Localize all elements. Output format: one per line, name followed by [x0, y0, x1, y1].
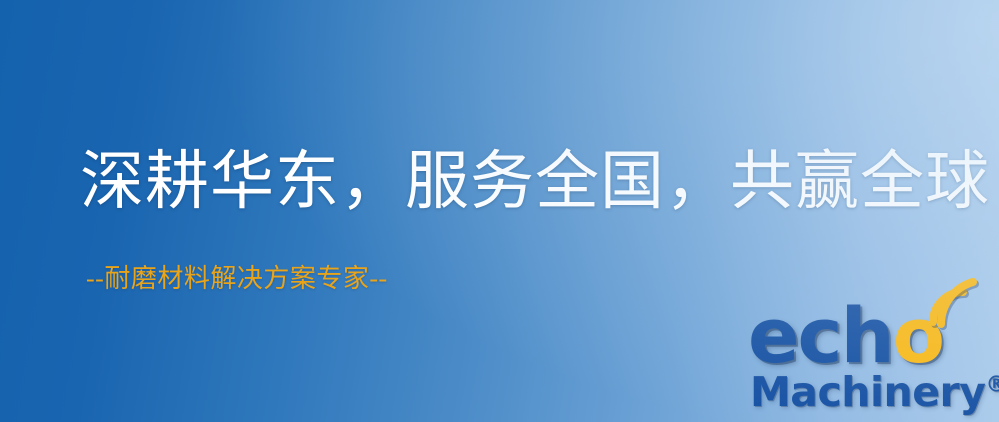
registered-trademark-icon: ® [985, 372, 999, 397]
logo-o-group: o [893, 302, 943, 370]
echo-machinery-logo: ech o Machinery® [748, 296, 996, 418]
logo-tagline-text: Machinery [750, 368, 985, 416]
banner-headline: 深耕华东，服务全国，共赢全球 [80, 150, 990, 214]
signal-waves-icon [921, 272, 977, 328]
logo-wordmark: ech o [748, 296, 943, 370]
logo-tagline: Machinery® [750, 372, 999, 413]
promo-banner: 深耕华东，服务全国，共赢全球 --耐磨材料解决方案专家-- ech o Mach… [0, 0, 999, 422]
logo-brand-text: ech [748, 302, 893, 370]
banner-subtitle: --耐磨材料解决方案专家-- [86, 266, 388, 292]
